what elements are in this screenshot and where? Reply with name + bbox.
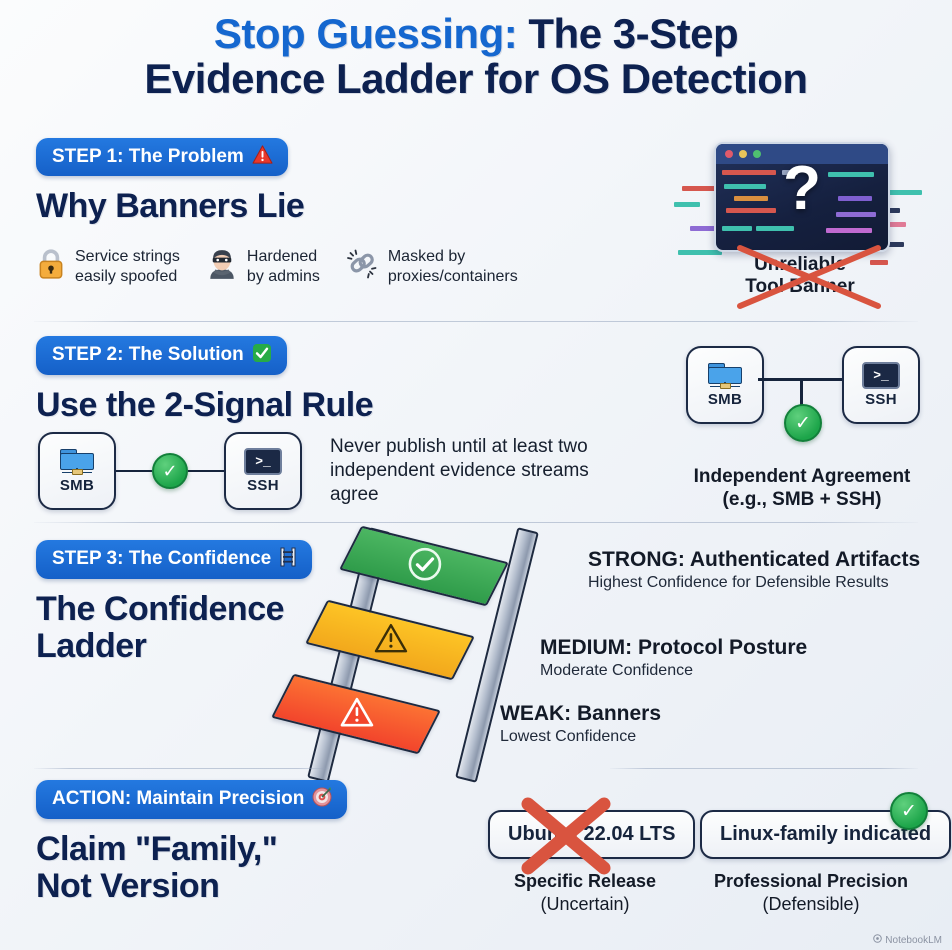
step-2-badge-label: STEP 2: The Solution — [52, 344, 244, 366]
node-ssh: >_ SSH — [224, 432, 302, 510]
chip-specific-release[interactable]: Ubuntu 22.04 LTS — [488, 810, 695, 859]
ladder-label-weak: WEAK: Banners Lowest Confidence — [500, 702, 900, 746]
chip-specific-release-caption: Specific Release (Uncertain) — [488, 870, 682, 915]
ladder-rung-medium — [305, 600, 475, 681]
node-smb: SMB — [38, 432, 116, 510]
ladder-label-strong-title: STRONG: Authenticated Artifacts — [588, 548, 938, 572]
dart-target-icon — [312, 787, 332, 811]
art-caption: Unreliable Tool Banner — [700, 254, 900, 298]
glitch-bar — [722, 226, 752, 231]
approved-check-icon: ✓ — [890, 792, 928, 830]
connector-line — [116, 470, 152, 473]
smb-folder-icon — [708, 363, 742, 389]
divider-left — [34, 768, 334, 769]
bullet-line-2: by admins — [247, 268, 320, 285]
unreliable-banner-art: ? Unreliable Tool Banner — [700, 142, 900, 312]
action-heading: Claim "Family," Not Version — [36, 831, 347, 906]
agreement-caption: Independent Agreement (e.g., SMB + SSH) — [686, 466, 918, 512]
window-maximize-dot — [753, 150, 761, 158]
action-heading-line-2: Not Version — [36, 868, 347, 905]
art-node-ssh-label: SSH — [865, 391, 897, 408]
step-3-heading-line-1: The Confidence — [36, 591, 312, 628]
infographic-canvas: Stop Guessing: The 3-Step Evidence Ladde… — [0, 0, 952, 950]
two-signal-diagram: SMB ✓ >_ SSH Never publish until at leas… — [38, 432, 598, 510]
bullet-line-1: Hardened — [247, 248, 317, 265]
bullet-hardened: Hardened by admins — [206, 247, 320, 286]
check-circle-icon — [398, 544, 449, 588]
art-caption-line-1: Unreliable — [700, 254, 900, 276]
watermark-label: NotebookLM — [885, 935, 942, 946]
bullet-masked-text: Masked by proxies/containers — [388, 247, 518, 286]
connector-line — [188, 470, 224, 473]
ladder-label-strong-subtitle: Highest Confidence for Defensible Result… — [588, 574, 938, 592]
two-signal-body-text: Never publish until at least two indepen… — [330, 435, 598, 508]
window-minimize-dot — [739, 150, 747, 158]
divider — [34, 321, 918, 322]
warning-triangle-icon — [252, 145, 273, 168]
ladder-rung-weak — [271, 674, 441, 755]
caption-main: Specific Release — [514, 871, 656, 891]
ladder-label-medium-subtitle: Moderate Confidence — [540, 662, 940, 680]
burglar-icon — [206, 248, 238, 286]
broken-chain-icon — [346, 249, 379, 285]
caption-sub: (Defensible) — [700, 893, 922, 916]
agreement-caption-line-2: (e.g., SMB + SSH) — [686, 489, 918, 512]
page-title: Stop Guessing: The 3-Step Evidence Ladde… — [0, 12, 952, 101]
ladder-label-medium: MEDIUM: Protocol Posture Moderate Confid… — [540, 636, 940, 680]
title-accent: Stop Guessing: — [214, 10, 517, 57]
step-3-badge[interactable]: STEP 3: The Confidence — [36, 540, 312, 579]
action-heading-line-1: Claim "Family," — [36, 831, 347, 868]
art-caption-line-2: Tool Banner — [700, 276, 900, 298]
bullet-hardened-text: Hardened by admins — [247, 247, 320, 286]
art-node-smb-label: SMB — [708, 391, 742, 408]
action-badge[interactable]: ACTION: Maintain Precision — [36, 780, 347, 819]
ladder-label-strong: STRONG: Authenticated Artifacts Highest … — [588, 548, 938, 592]
bullet-service-strings-text: Service strings easily spoofed — [75, 247, 180, 286]
agreement-check-icon: ✓ — [152, 453, 188, 489]
bullet-masked: Masked by proxies/containers — [346, 247, 518, 286]
terminal-window: ? — [714, 142, 890, 252]
caption-sub: (Uncertain) — [488, 893, 682, 916]
warning-triangle-icon — [331, 693, 381, 735]
glitch-bar — [826, 228, 872, 233]
glitch-bar — [756, 226, 794, 231]
chip-group-rejected: Ubuntu 22.04 LTS Specific Release (Uncer… — [488, 810, 682, 915]
step-2-heading: Use the 2-Signal Rule — [36, 387, 373, 424]
bullet-line-1: Service strings — [75, 248, 180, 265]
ladder-label-medium-title: MEDIUM: Protocol Posture — [540, 636, 940, 660]
title-line-1: Stop Guessing: The 3-Step — [0, 12, 952, 57]
node-ssh-label: SSH — [247, 477, 279, 494]
agreement-check-icon: ✓ — [784, 404, 822, 442]
bullet-line-2: easily spoofed — [75, 268, 177, 285]
chip-linux-family-caption: Professional Precision (Defensible) — [700, 870, 922, 915]
step-3-heading: The Confidence Ladder — [36, 591, 312, 666]
bullet-line-2: proxies/containers — [388, 268, 518, 285]
divider-right — [610, 768, 918, 769]
step-1-badge[interactable]: STEP 1: The Problem — [36, 138, 288, 176]
ssh-terminal-icon: >_ — [862, 362, 900, 389]
step-2-badge[interactable]: STEP 2: The Solution — [36, 336, 287, 375]
title-line-2: Evidence Ladder for OS Detection — [0, 57, 952, 102]
watermark: NotebookLM — [873, 934, 942, 946]
ladder-label-weak-title: WEAK: Banners — [500, 702, 900, 726]
window-close-dot — [725, 150, 733, 158]
question-mark-glyph: ? — [716, 158, 888, 220]
glitch-bar — [674, 202, 700, 207]
art-node-ssh: >_ SSH — [842, 346, 920, 424]
smb-folder-icon — [60, 449, 94, 475]
green-check-box-icon — [252, 343, 272, 367]
action-badge-label: ACTION: Maintain Precision — [52, 788, 304, 810]
title-rest: The 3-Step — [517, 10, 738, 57]
step-3-heading-line-2: Ladder — [36, 628, 312, 665]
ssh-terminal-icon: >_ — [244, 448, 282, 475]
agreement-caption-line-1: Independent Agreement — [686, 466, 918, 489]
bullet-line-1: Masked by — [388, 248, 465, 265]
chip-group-approved: Linux-family indicated ✓ Professional Pr… — [700, 810, 922, 915]
art-node-smb: SMB — [686, 346, 764, 424]
independent-agreement-art: SMB ✓ >_ SSH Independent Agreement (e.g.… — [686, 346, 918, 512]
step-1-badge-label: STEP 1: The Problem — [52, 146, 244, 168]
bullet-service-strings: Service strings easily spoofed — [36, 247, 180, 286]
step-1-bullet-row: Service strings easily spoofed — [36, 247, 518, 286]
ladder-label-weak-subtitle: Lowest Confidence — [500, 728, 900, 746]
step-3-badge-label: STEP 3: The Confidence — [52, 548, 271, 570]
node-smb-label: SMB — [60, 477, 94, 494]
warning-triangle-icon — [365, 619, 415, 661]
notebooklm-logo-icon — [873, 934, 882, 946]
caption-main: Professional Precision — [714, 871, 908, 891]
lock-icon — [36, 248, 66, 286]
step-1-heading: Why Banners Lie — [36, 188, 518, 225]
